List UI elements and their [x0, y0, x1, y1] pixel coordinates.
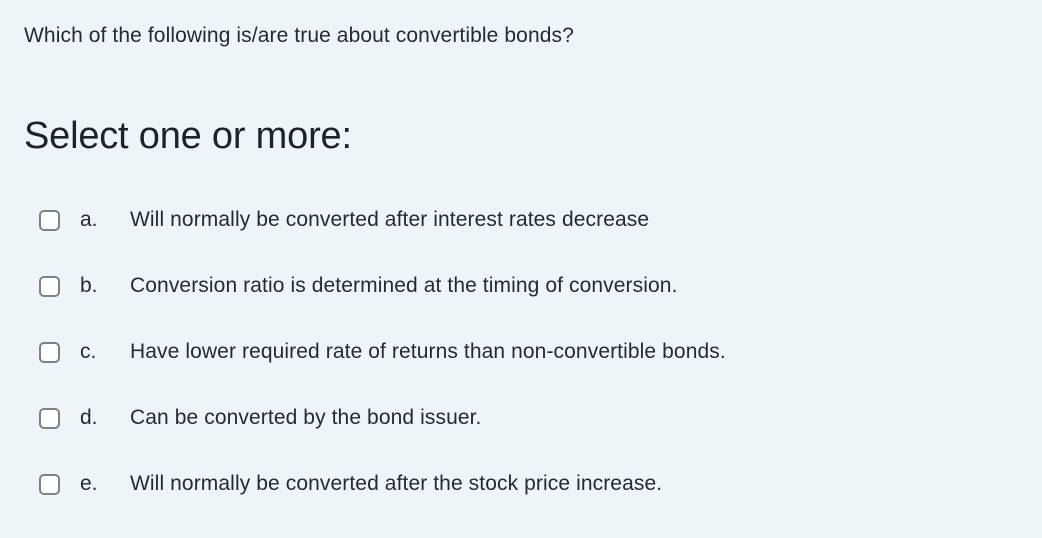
option-text-c: Have lower required rate of returns than… [130, 338, 726, 366]
checkbox-option-d[interactable] [39, 408, 60, 429]
option-letter-a: a. [80, 206, 130, 234]
option-row-c[interactable]: c. Have lower required rate of returns t… [0, 330, 1042, 374]
option-letter-e: e. [80, 470, 130, 498]
quiz-question-page: Which of the following is/are true about… [0, 0, 1042, 538]
option-text-b: Conversion ratio is determined at the ti… [130, 272, 678, 300]
question-stem: Which of the following is/are true about… [24, 22, 574, 50]
option-row-b[interactable]: b. Conversion ratio is determined at the… [0, 264, 1042, 308]
option-letter-b: b. [80, 272, 130, 300]
option-text-d: Can be converted by the bond issuer. [130, 404, 482, 432]
checkbox-option-b[interactable] [39, 276, 60, 297]
option-row-d[interactable]: d. Can be converted by the bond issuer. [0, 396, 1042, 440]
option-row-e[interactable]: e. Will normally be converted after the … [0, 462, 1042, 506]
option-row-a[interactable]: a. Will normally be converted after inte… [0, 198, 1042, 242]
checkbox-option-e[interactable] [39, 474, 60, 495]
select-instruction-heading: Select one or more: [24, 112, 352, 160]
answer-options-list: a. Will normally be converted after inte… [0, 198, 1042, 528]
option-letter-c: c. [80, 338, 130, 366]
option-text-a: Will normally be converted after interes… [130, 206, 649, 234]
option-letter-d: d. [80, 404, 130, 432]
option-text-e: Will normally be converted after the sto… [130, 470, 662, 498]
checkbox-option-a[interactable] [39, 210, 60, 231]
checkbox-option-c[interactable] [39, 342, 60, 363]
